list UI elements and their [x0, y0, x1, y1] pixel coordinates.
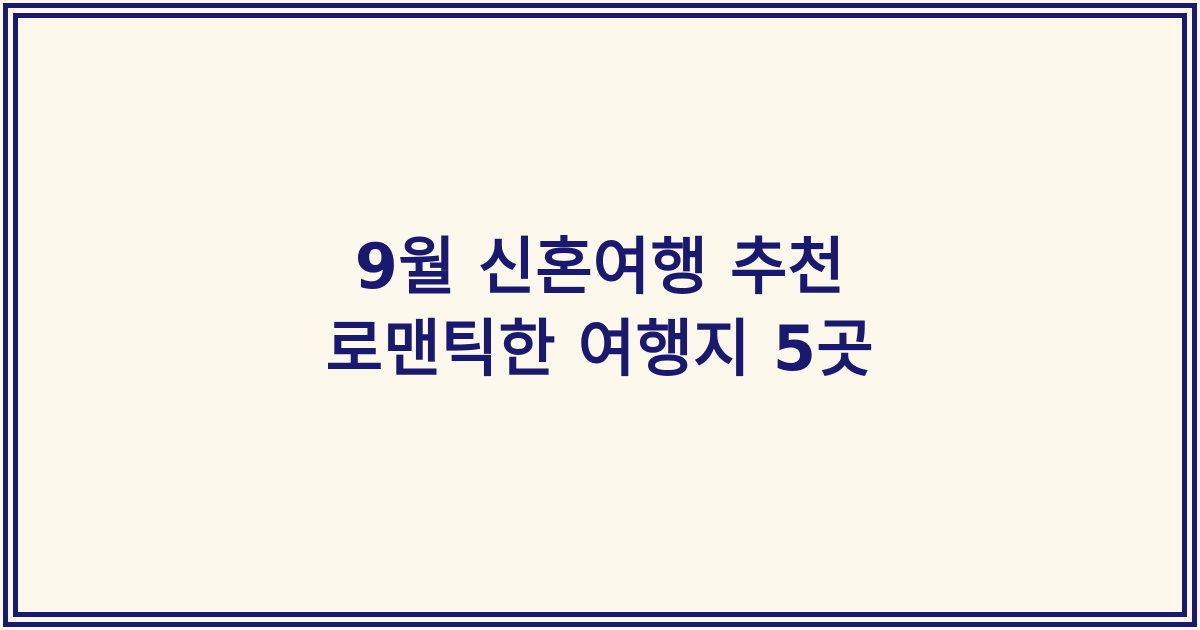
- thumbnail-card: 9월 신혼여행 추천 로맨틱한 여행지 5곳: [0, 0, 1200, 630]
- headline-line-1: 9월 신혼여행 추천: [100, 226, 1100, 308]
- headline-line-2: 로맨틱한 여행지 5곳: [100, 308, 1100, 390]
- headline-block: 9월 신혼여행 추천 로맨틱한 여행지 5곳: [100, 226, 1100, 390]
